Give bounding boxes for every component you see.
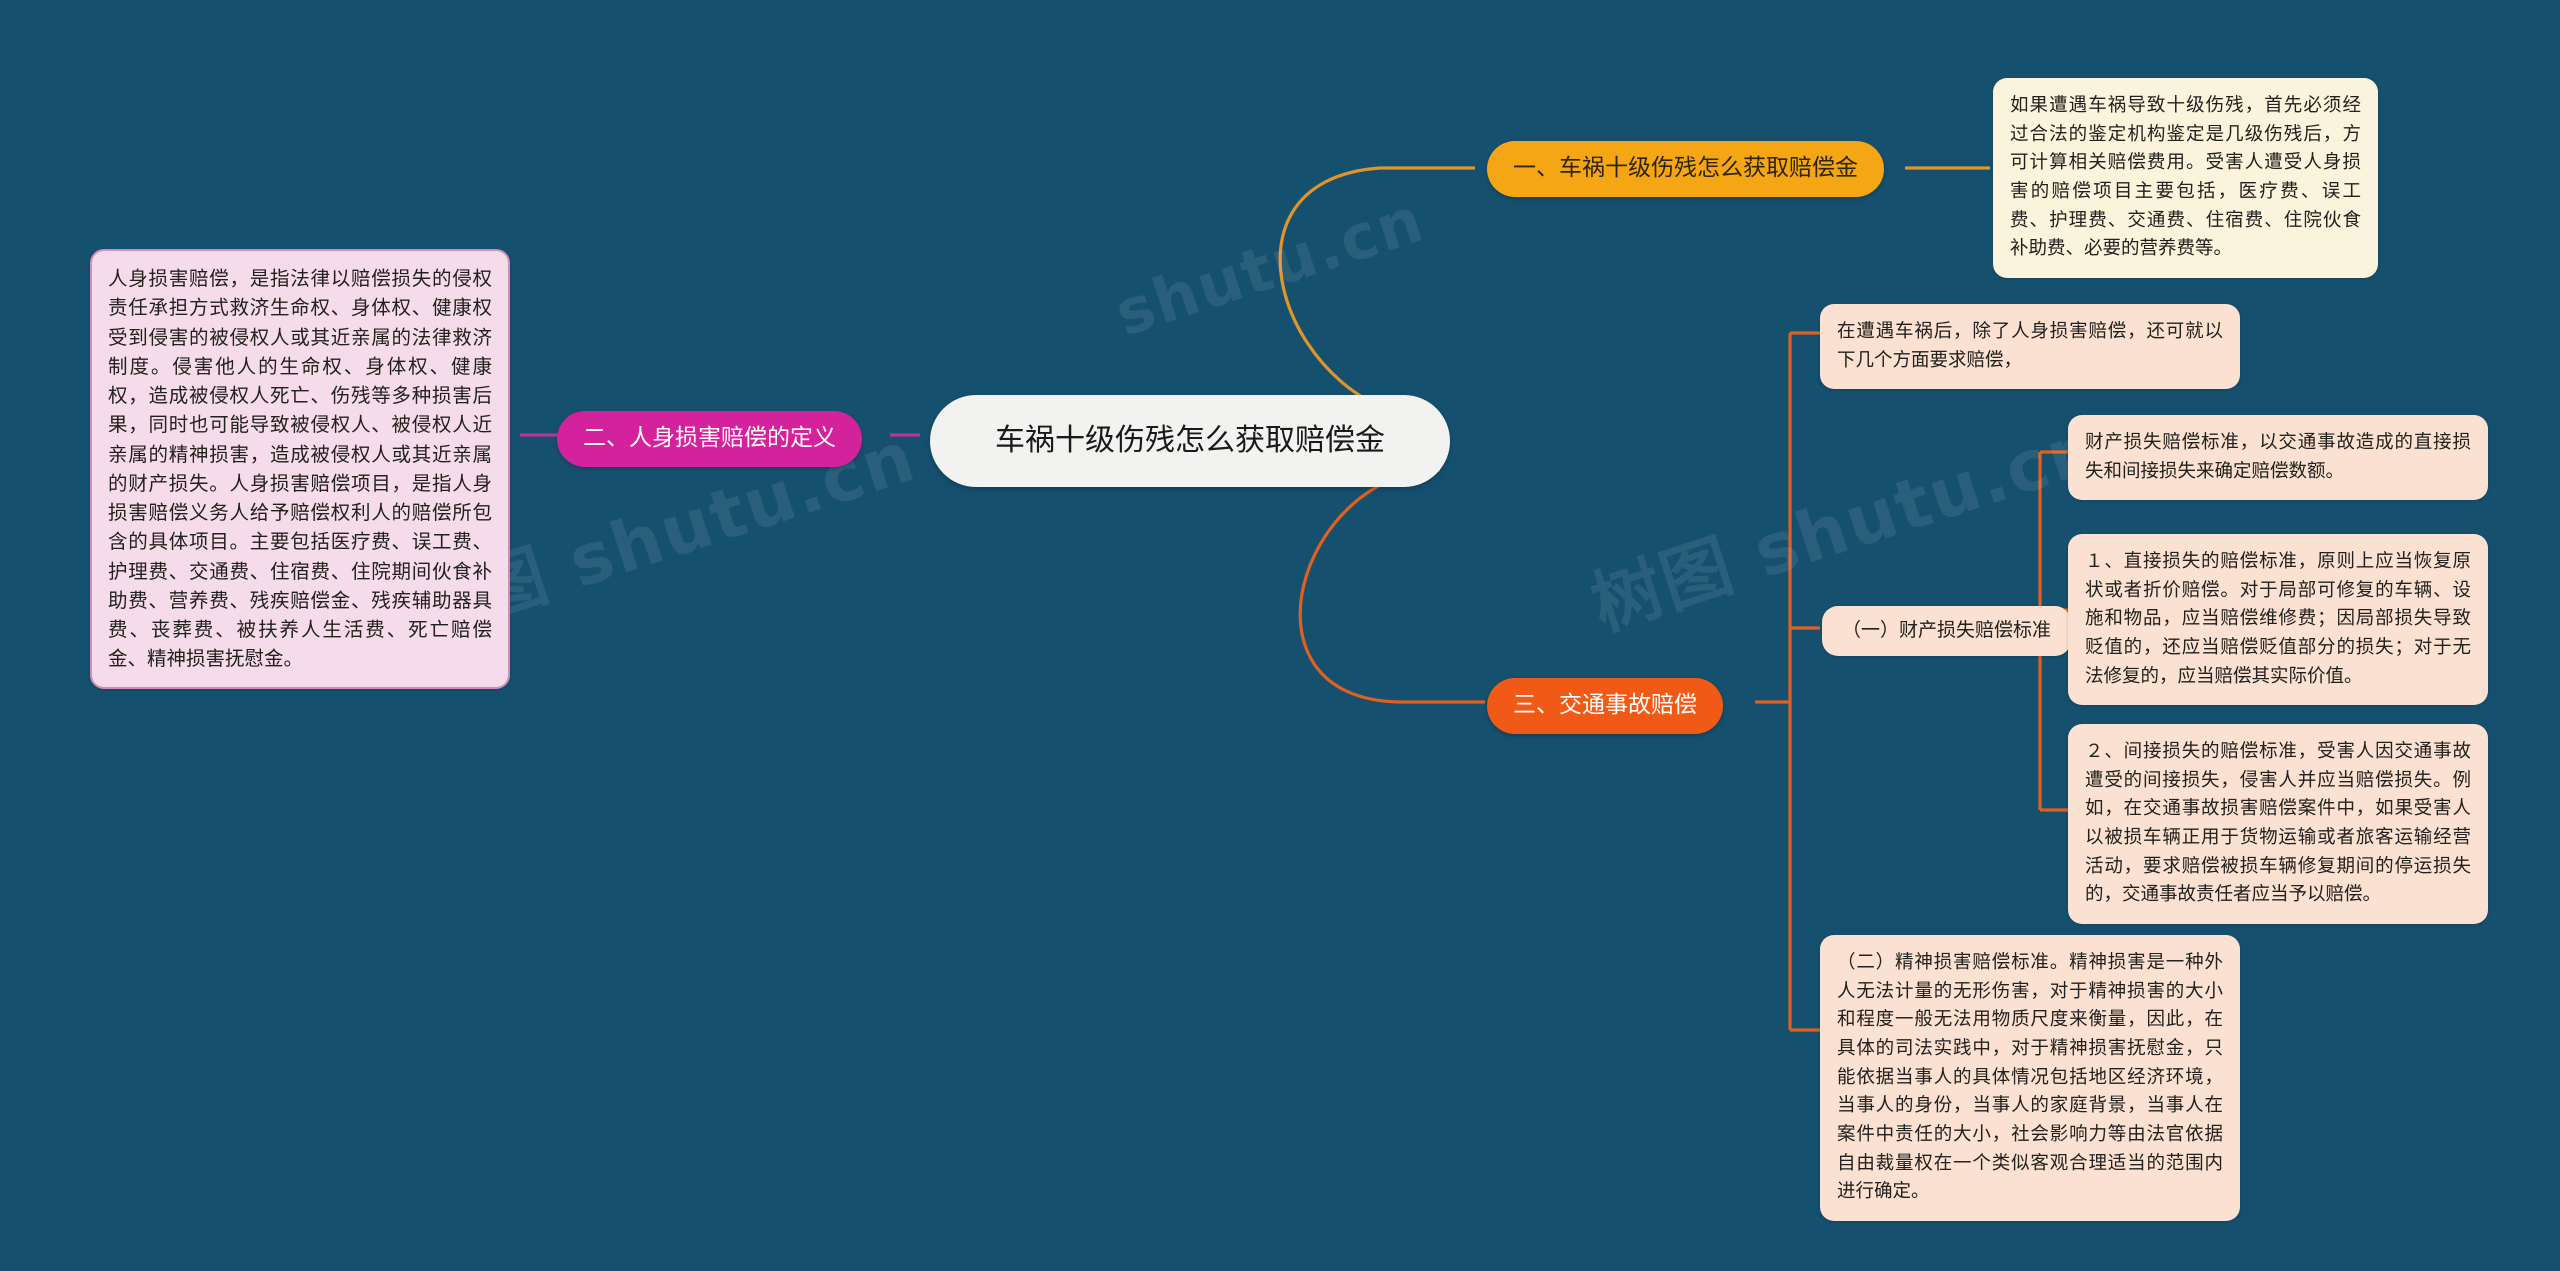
leaf-indirect-loss-standard[interactable]: ２、间接损失的赔偿标准，受害人因交通事故遭受的间接损失，侵害人并应当赔偿损失。例…: [2068, 724, 2488, 924]
branch-node-2[interactable]: 二、人身损害赔偿的定义: [557, 411, 862, 467]
leaf-direct-loss-standard-text: １、直接损失的赔偿标准，原则上应当恢复原状或者折价赔偿。对于局部可修复的车辆、设…: [2085, 551, 2471, 687]
leaf-branch1-detail-text: 如果遭遇车祸导致十级伤残，首先必须经过合法的鉴定机构鉴定是几级伤残后，方可计算相…: [2010, 95, 2361, 259]
branch-node-3-label: 三、交通事故赔偿: [1513, 692, 1697, 718]
leaf-indirect-loss-standard-text: ２、间接损失的赔偿标准，受害人因交通事故遭受的间接损失，侵害人并应当赔偿损失。例…: [2085, 741, 2471, 905]
leaf-mental-damage-standard[interactable]: （二）精神损害赔偿标准。精神损害是一种外人无法计量的无形伤害，对于精神损害的大小…: [1820, 935, 2240, 1221]
watermark-center: shutu.cn: [1107, 182, 1433, 350]
branch-node-1[interactable]: 一、车祸十级伤残怎么获取赔偿金: [1487, 141, 1884, 197]
subnode-property-loss-standard[interactable]: （一）财产损失赔偿标准: [1822, 606, 2071, 656]
leaf-property-loss-overview[interactable]: 财产损失赔偿标准，以交通事故造成的直接损失和间接损失来确定赔偿数额。: [2068, 415, 2488, 500]
mindmap-canvas: 树图 shutu.cn 树图 shutu.cn shutu.cn 车祸十级伤残怎…: [0, 0, 2560, 1271]
leaf-branch2-definition[interactable]: 人身损害赔偿，是指法律以赔偿损失的侵权责任承担方式救济生命权、身体权、健康权受到…: [90, 249, 510, 689]
leaf-branch2-definition-text: 人身损害赔偿，是指法律以赔偿损失的侵权责任承担方式救济生命权、身体权、健康权受到…: [108, 267, 492, 670]
leaf-direct-loss-standard[interactable]: １、直接损失的赔偿标准，原则上应当恢复原状或者折价赔偿。对于局部可修复的车辆、设…: [2068, 534, 2488, 705]
leaf-branch1-detail[interactable]: 如果遭遇车祸导致十级伤残，首先必须经过合法的鉴定机构鉴定是几级伤残后，方可计算相…: [1993, 78, 2378, 278]
subnode-property-loss-standard-label: （一）财产损失赔偿标准: [1842, 619, 2051, 641]
root-node-label: 车祸十级伤残怎么获取赔偿金: [995, 423, 1385, 458]
leaf-branch3-intro-text: 在遭遇车祸后，除了人身损害赔偿，还可就以下几个方面要求赔偿，: [1837, 321, 2223, 371]
branch-node-2-label: 二、人身损害赔偿的定义: [583, 425, 836, 451]
branch-node-1-label: 一、车祸十级伤残怎么获取赔偿金: [1513, 155, 1858, 181]
leaf-property-loss-overview-text: 财产损失赔偿标准，以交通事故造成的直接损失和间接损失来确定赔偿数额。: [2085, 432, 2471, 482]
root-node[interactable]: 车祸十级伤残怎么获取赔偿金: [930, 395, 1450, 487]
leaf-mental-damage-standard-text: （二）精神损害赔偿标准。精神损害是一种外人无法计量的无形伤害，对于精神损害的大小…: [1837, 952, 2223, 1202]
leaf-branch3-intro[interactable]: 在遭遇车祸后，除了人身损害赔偿，还可就以下几个方面要求赔偿，: [1820, 304, 2240, 389]
branch-node-3[interactable]: 三、交通事故赔偿: [1487, 678, 1723, 734]
